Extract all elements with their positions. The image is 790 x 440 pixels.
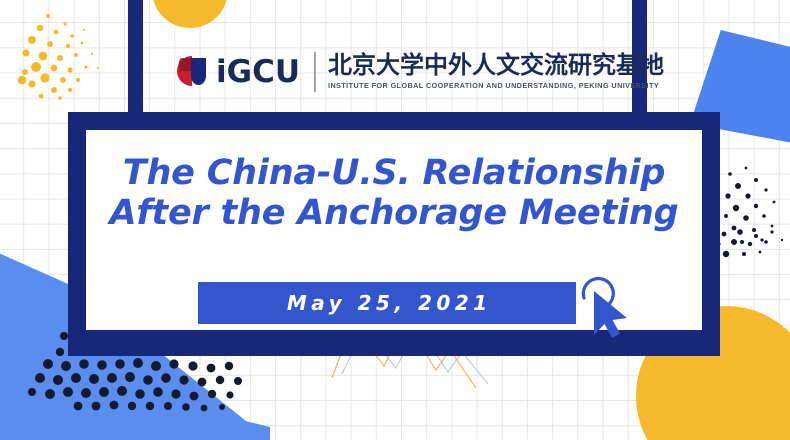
- brand-logo: iGCU 北京大学中外人文交流研究基地 INSTITUTE FOR GLOBAL…: [172, 48, 664, 96]
- page-title-line-2: After the Anchorage Meeting: [86, 194, 702, 234]
- brand-chinese-subtitle: INSTITUTE FOR GLOBAL COOPERATION AND UND…: [328, 81, 664, 91]
- page-title: The China-U.S. Relationship After the An…: [86, 154, 702, 234]
- date-button-label: May 25, 2021: [282, 291, 491, 315]
- poster-canvas: iGCU 北京大学中外人文交流研究基地 INSTITUTE FOR GLOBAL…: [0, 0, 790, 440]
- hanger-bar-left: [128, 0, 143, 126]
- igcu-logo-mark: [172, 52, 214, 92]
- brand-chinese: 北京大学中外人文交流研究基地: [328, 53, 664, 78]
- navy-dot-cluster-bottom-right: [714, 228, 790, 264]
- brand-latin: iGCU: [216, 57, 300, 88]
- click-cursor-icon: [575, 272, 637, 338]
- date-button[interactable]: May 25, 2021: [198, 282, 576, 324]
- page-title-line-1: The China-U.S. Relationship: [86, 154, 702, 194]
- brand-divider: [314, 52, 316, 92]
